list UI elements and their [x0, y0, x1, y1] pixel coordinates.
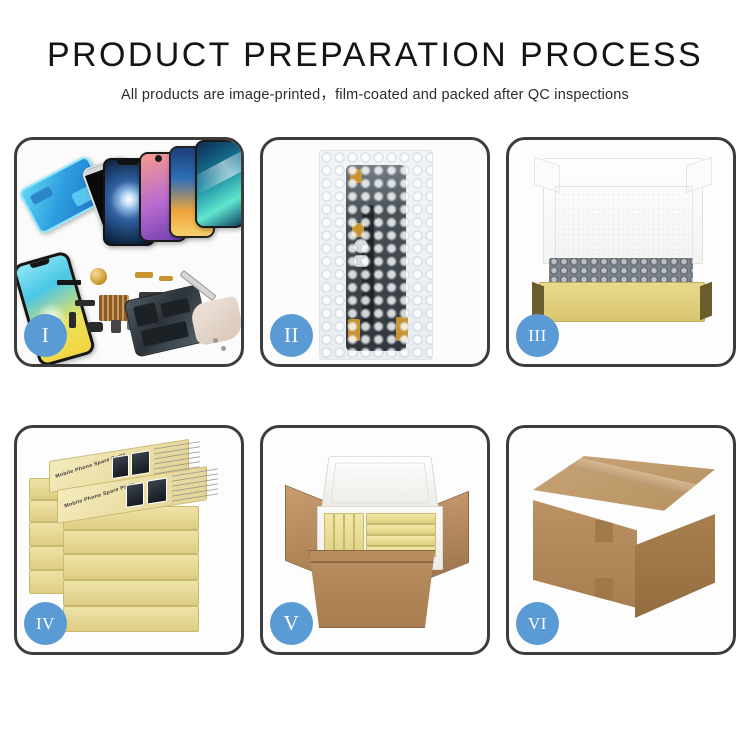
speaker-module [90, 268, 107, 285]
phone-teal-gradient [195, 140, 241, 228]
box-screen-art-b1 [112, 454, 129, 479]
carton-tab-upper [595, 520, 613, 542]
shipping-carton-open [287, 454, 467, 624]
box-screen-art-f2 [147, 477, 167, 504]
stack-box-f3 [63, 554, 199, 580]
step-badge-4: IV [24, 602, 67, 645]
step-badge-2: II [270, 314, 313, 357]
foam-cooler-lid [321, 456, 439, 512]
box-base-yellow [539, 282, 705, 322]
step-panel-3: III [506, 137, 736, 367]
packing-tape [550, 451, 699, 496]
step-panel-4: Mobile Phone Spare Parts Mobile Pho [14, 425, 244, 655]
steps-grid: I II [14, 137, 736, 655]
box-screen-art-b2 [131, 450, 150, 476]
step-panel-2: II [260, 137, 490, 367]
foam-sheet [555, 186, 693, 266]
battery-strip [57, 280, 81, 285]
flex-cable-3 [69, 312, 76, 328]
page-subtitle: All products are image-printed，film-coat… [0, 83, 750, 104]
flex-cable-gold-1 [135, 272, 153, 278]
carton-tab-lower [595, 578, 613, 600]
inner-box-6 [366, 524, 436, 535]
bubble-wrap-bag [319, 150, 433, 360]
taptic-engine [111, 320, 121, 333]
screw-2 [221, 346, 226, 351]
product-preparation-infographic: PRODUCT PREPARATION PROCESS All products… [0, 0, 750, 750]
stack-box-f4 [63, 580, 199, 606]
page-title: PRODUCT PREPARATION PROCESS [0, 36, 750, 74]
header: PRODUCT PREPARATION PROCESS All products… [0, 0, 750, 104]
step-badge-6: VI [516, 602, 559, 645]
flex-cable-gold-2 [159, 276, 173, 281]
bubble-texture [320, 151, 432, 359]
flex-cable-2 [75, 300, 95, 306]
sealed-shipping-carton [533, 456, 715, 626]
step-badge-1: I [24, 314, 67, 357]
inner-box-7 [366, 535, 436, 546]
step-badge-5: V [270, 602, 313, 645]
carton-side-face [635, 514, 715, 618]
camera-module [87, 322, 103, 332]
carton-front-body [309, 550, 435, 628]
box-screen-art-f1 [126, 482, 144, 508]
step-panel-1: I [14, 137, 244, 367]
step-panel-6: VI [506, 425, 736, 655]
step-panel-5: V [260, 425, 490, 655]
stack-box-f2 [63, 530, 199, 554]
step-badge-3: III [516, 314, 559, 357]
carton-front-face [533, 500, 637, 608]
open-inner-box [531, 158, 713, 328]
screw-1 [213, 338, 218, 343]
inner-box-5 [366, 513, 436, 524]
stack-box-f5 [63, 606, 199, 632]
